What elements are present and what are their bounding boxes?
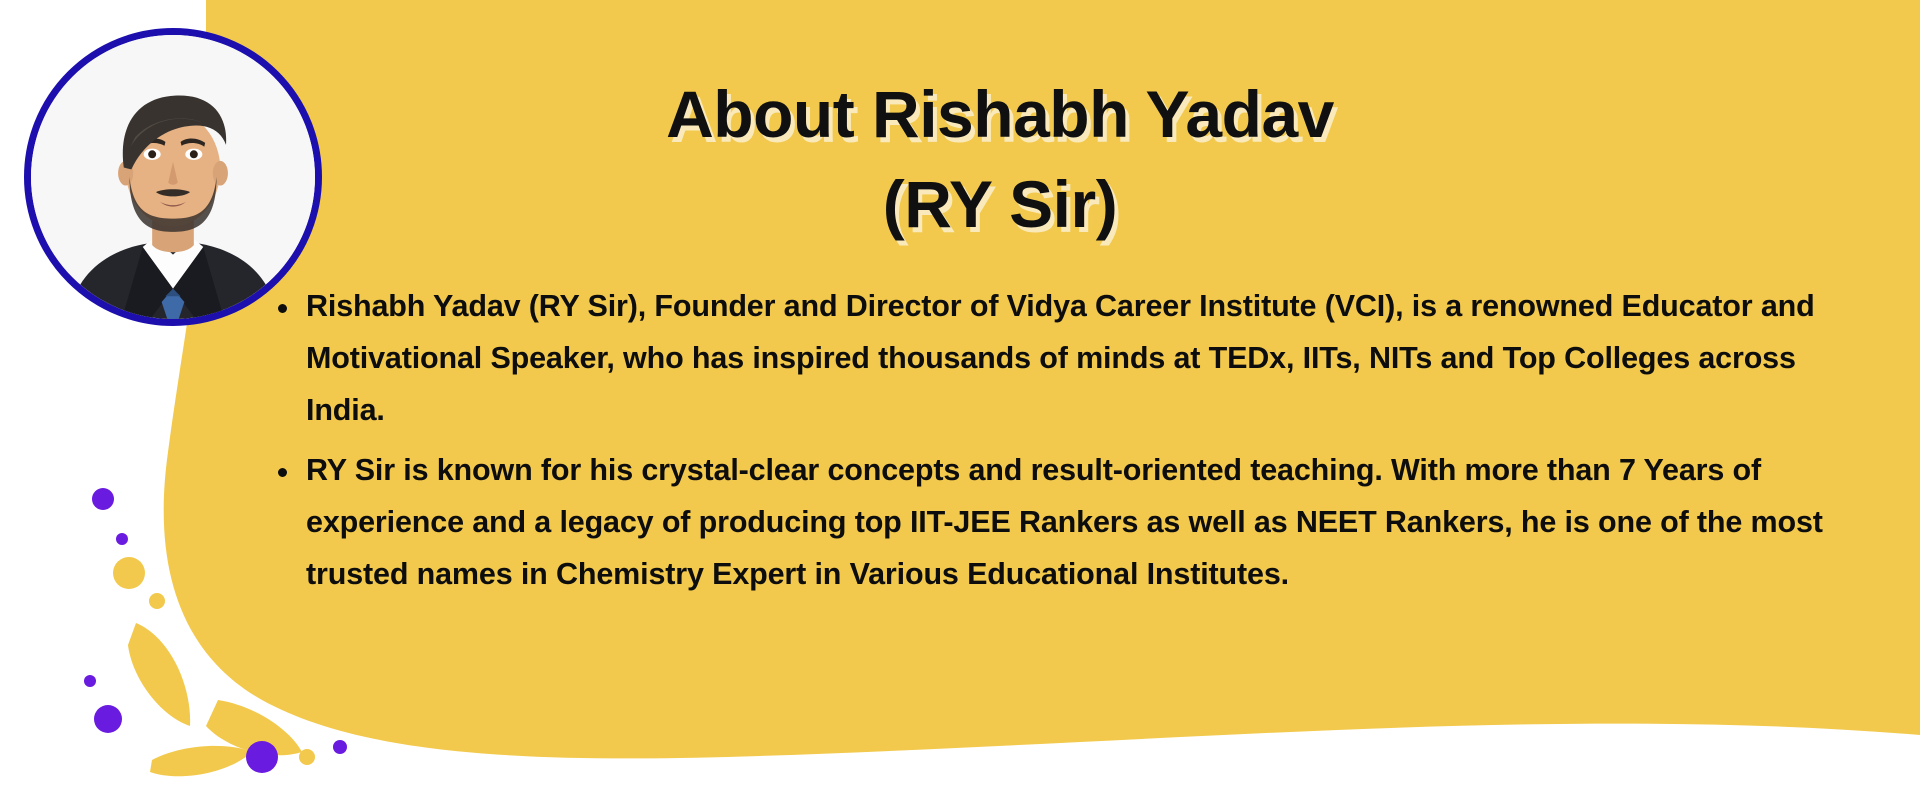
purple-dot-tiny-left bbox=[84, 675, 96, 687]
about-bullet-list: Rishabh Yadav (RY Sir), Founder and Dire… bbox=[272, 280, 1872, 600]
yellow-dot-small bbox=[149, 593, 165, 609]
page-title: About Rishabh Yadav (RY Sir) bbox=[300, 70, 1700, 250]
purple-dot-large-top bbox=[92, 488, 114, 510]
petal-lower bbox=[150, 746, 252, 776]
about-slide: About Rishabh Yadav (RY Sir) Rishabh Yad… bbox=[0, 0, 1920, 800]
purple-dot-tiny-right bbox=[333, 740, 347, 754]
list-item: RY Sir is known for his crystal-clear co… bbox=[272, 444, 1872, 600]
portrait-illustration bbox=[31, 35, 315, 319]
list-item: Rishabh Yadav (RY Sir), Founder and Dire… bbox=[272, 280, 1872, 436]
purple-dot-large-bottom bbox=[246, 741, 278, 773]
yellow-dot-bottom bbox=[299, 749, 315, 765]
yellow-dot-large bbox=[113, 557, 145, 589]
purple-dot-small-upper bbox=[116, 533, 128, 545]
petal-upper bbox=[128, 623, 190, 726]
petal-middle bbox=[206, 700, 302, 755]
about-body: Rishabh Yadav (RY Sir), Founder and Dire… bbox=[272, 280, 1872, 608]
purple-dot-medium-left bbox=[94, 705, 122, 733]
